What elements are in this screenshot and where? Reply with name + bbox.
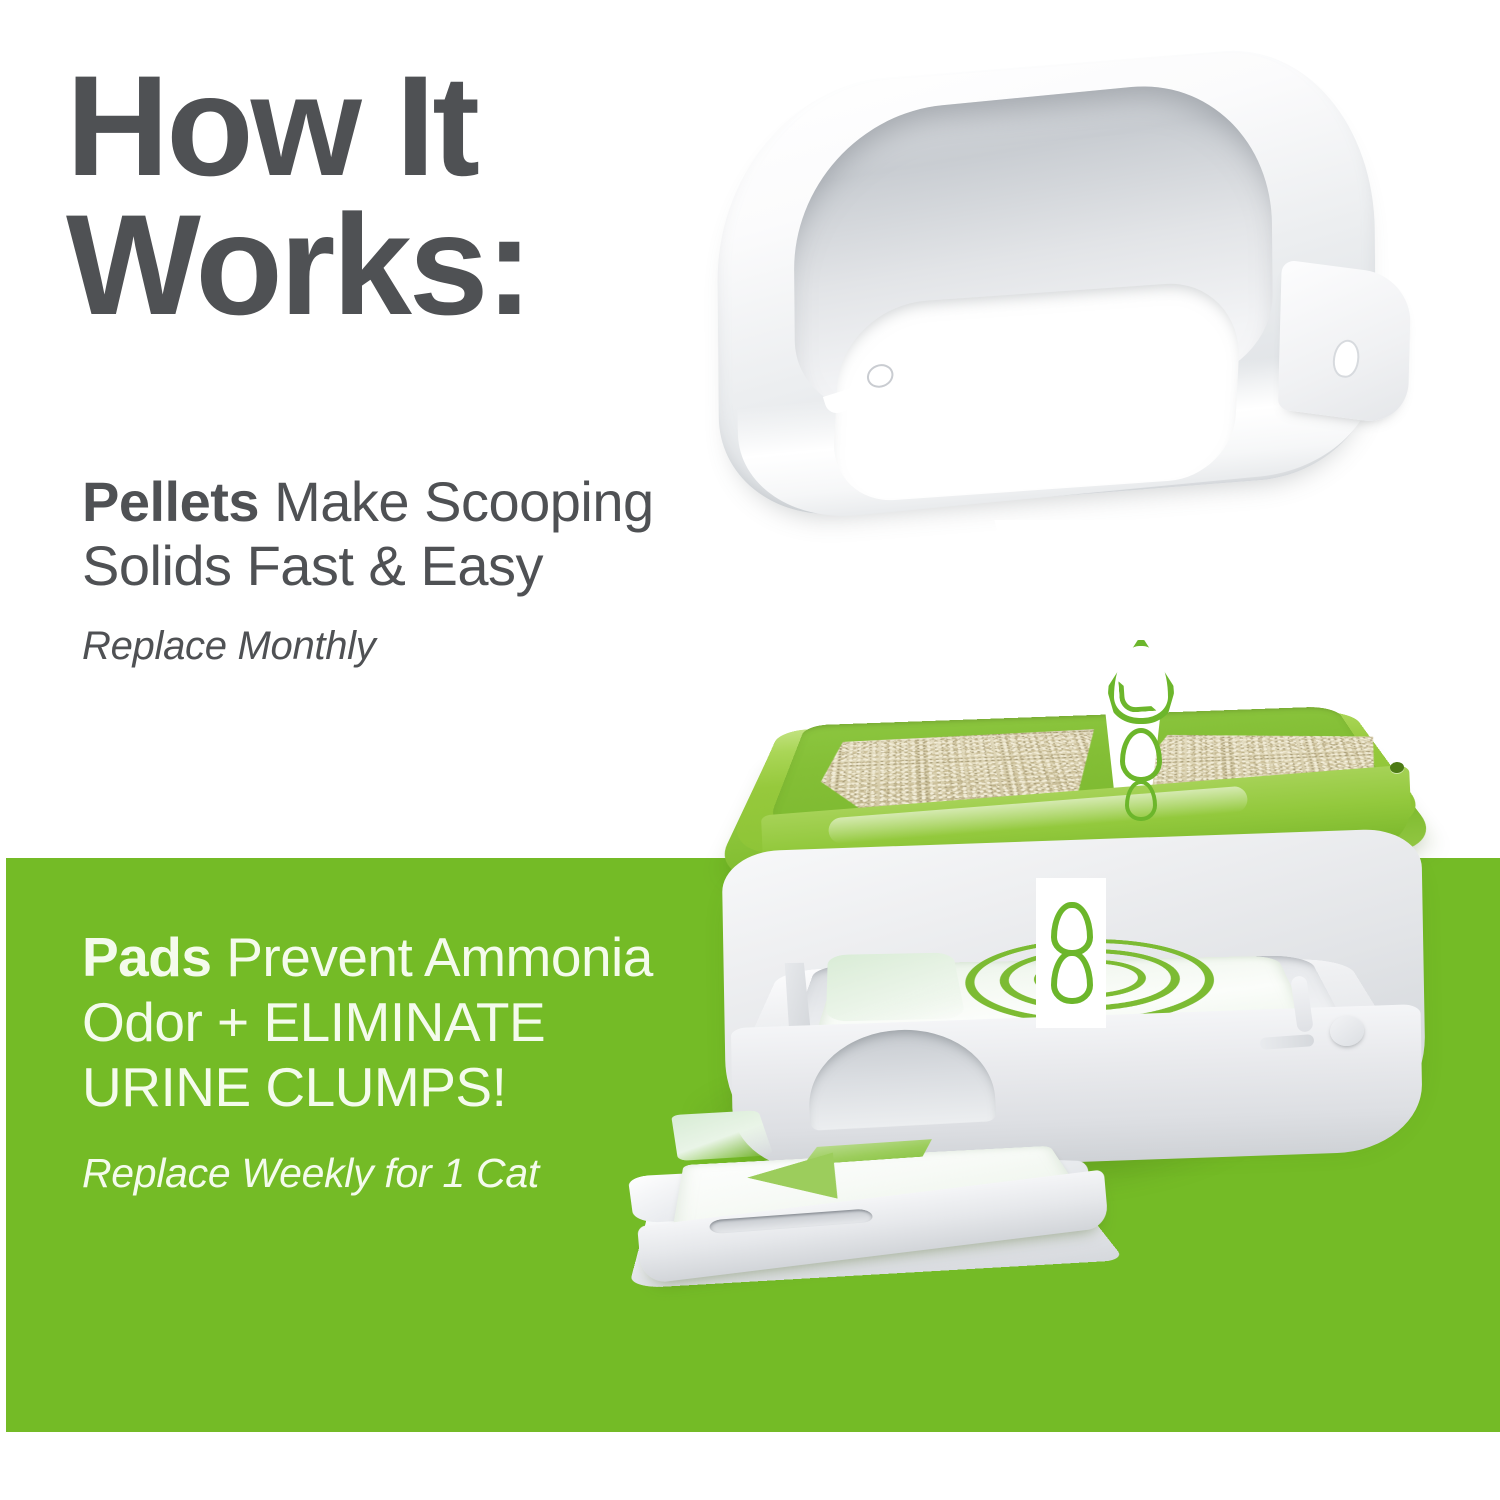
hood-rim-shape xyxy=(676,16,1421,581)
hood-opening xyxy=(831,279,1243,505)
hood-rim-part xyxy=(698,48,1418,568)
water-droplet-icon-small xyxy=(1125,780,1157,821)
water-droplet-icon-medium xyxy=(1120,728,1162,782)
droplet-icon-group-upper xyxy=(1106,640,1176,820)
water-droplet-icon-large xyxy=(1108,640,1174,724)
water-droplet-icon-lower-2 xyxy=(1051,950,1093,1004)
infographic-canvas: How It Works: Pellets Make Scooping Soli… xyxy=(0,0,1500,1500)
pads-bold-word: Pads xyxy=(82,926,211,988)
pad-edge-shading xyxy=(826,952,966,1021)
droplet-highlight-arc-icon xyxy=(1118,679,1156,713)
water-droplet-icon-lower-1 xyxy=(1051,902,1093,956)
pull-out-drawer-part[interactable] xyxy=(600,1048,1160,1298)
droplet-icon-group-lower xyxy=(1050,902,1094,1012)
product-illustration xyxy=(600,40,1480,1300)
pellets-bold-word: Pellets xyxy=(82,470,259,533)
arrow-head xyxy=(746,1153,838,1202)
